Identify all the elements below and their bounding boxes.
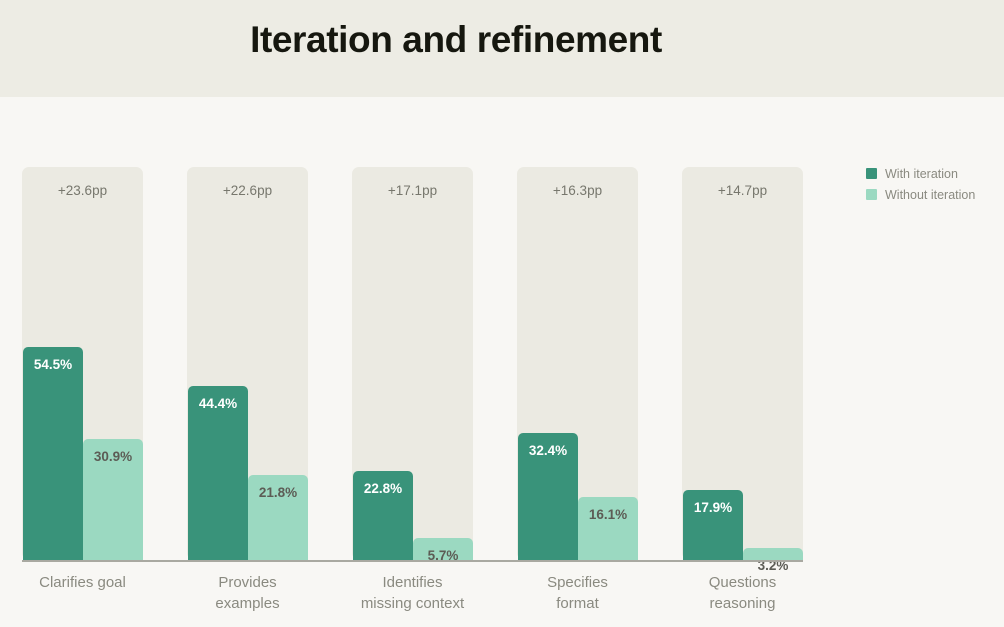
category-label: Provides examples: [167, 572, 328, 614]
delta-annotation: +14.7pp: [682, 183, 803, 198]
bar-value-label: 30.9%: [83, 449, 143, 464]
delta-annotation: +23.6pp: [22, 183, 143, 198]
bar-value-label: 17.9%: [683, 500, 743, 515]
bar-without-iteration[interactable]: 30.9%: [83, 439, 143, 560]
category-label: Identifies missing context: [332, 572, 493, 614]
category-label: Questions reasoning: [662, 572, 823, 614]
legend-swatch-icon: [866, 168, 877, 179]
bar-value-label: 16.1%: [578, 507, 638, 522]
legend-label: Without iteration: [885, 188, 975, 202]
axis-baseline: [22, 560, 803, 562]
chart-area: +23.6pp54.5%30.9%Clarifies goal+22.6pp44…: [0, 97, 1004, 627]
category-label: Clarifies goal: [2, 572, 163, 593]
bar-with-iteration[interactable]: 44.4%: [188, 386, 248, 560]
bar-without-iteration[interactable]: 3.2%: [743, 548, 803, 561]
delta-annotation: +16.3pp: [517, 183, 638, 198]
legend-item[interactable]: With iteration: [866, 165, 975, 182]
legend-swatch-icon: [866, 189, 877, 200]
bar-group-panel: +23.6pp54.5%30.9%: [22, 167, 143, 560]
bar-value-label: 32.4%: [518, 443, 578, 458]
legend-label: With iteration: [885, 167, 958, 181]
bar-with-iteration[interactable]: 17.9%: [683, 490, 743, 560]
bar-value-label: 44.4%: [188, 396, 248, 411]
category-label: Specifies format: [497, 572, 658, 614]
bar-with-iteration[interactable]: 22.8%: [353, 471, 413, 560]
bar-with-iteration[interactable]: 54.5%: [23, 347, 83, 560]
bar-value-label: 22.8%: [353, 481, 413, 496]
bar-with-iteration[interactable]: 32.4%: [518, 433, 578, 560]
bar-group-panel: +22.6pp44.4%21.8%: [187, 167, 308, 560]
legend-item[interactable]: Without iteration: [866, 186, 975, 203]
bar-without-iteration[interactable]: 5.7%: [413, 538, 473, 560]
bar-without-iteration[interactable]: 21.8%: [248, 475, 308, 560]
chart-legend: With iterationWithout iteration: [866, 165, 975, 207]
page-title: Iteration and refinement: [0, 10, 912, 70]
bar-group-panel: +16.3pp32.4%16.1%: [517, 167, 638, 560]
bar-group-panel: +17.1pp22.8%5.7%: [352, 167, 473, 560]
bar-group-panel: +14.7pp17.9%3.2%: [682, 167, 803, 560]
delta-annotation: +22.6pp: [187, 183, 308, 198]
bar-value-label: 54.5%: [23, 357, 83, 372]
bar-without-iteration[interactable]: 16.1%: [578, 497, 638, 560]
bar-value-label: 21.8%: [248, 485, 308, 500]
delta-annotation: +17.1pp: [352, 183, 473, 198]
bar-chart-plot: +23.6pp54.5%30.9%Clarifies goal+22.6pp44…: [0, 97, 1004, 627]
